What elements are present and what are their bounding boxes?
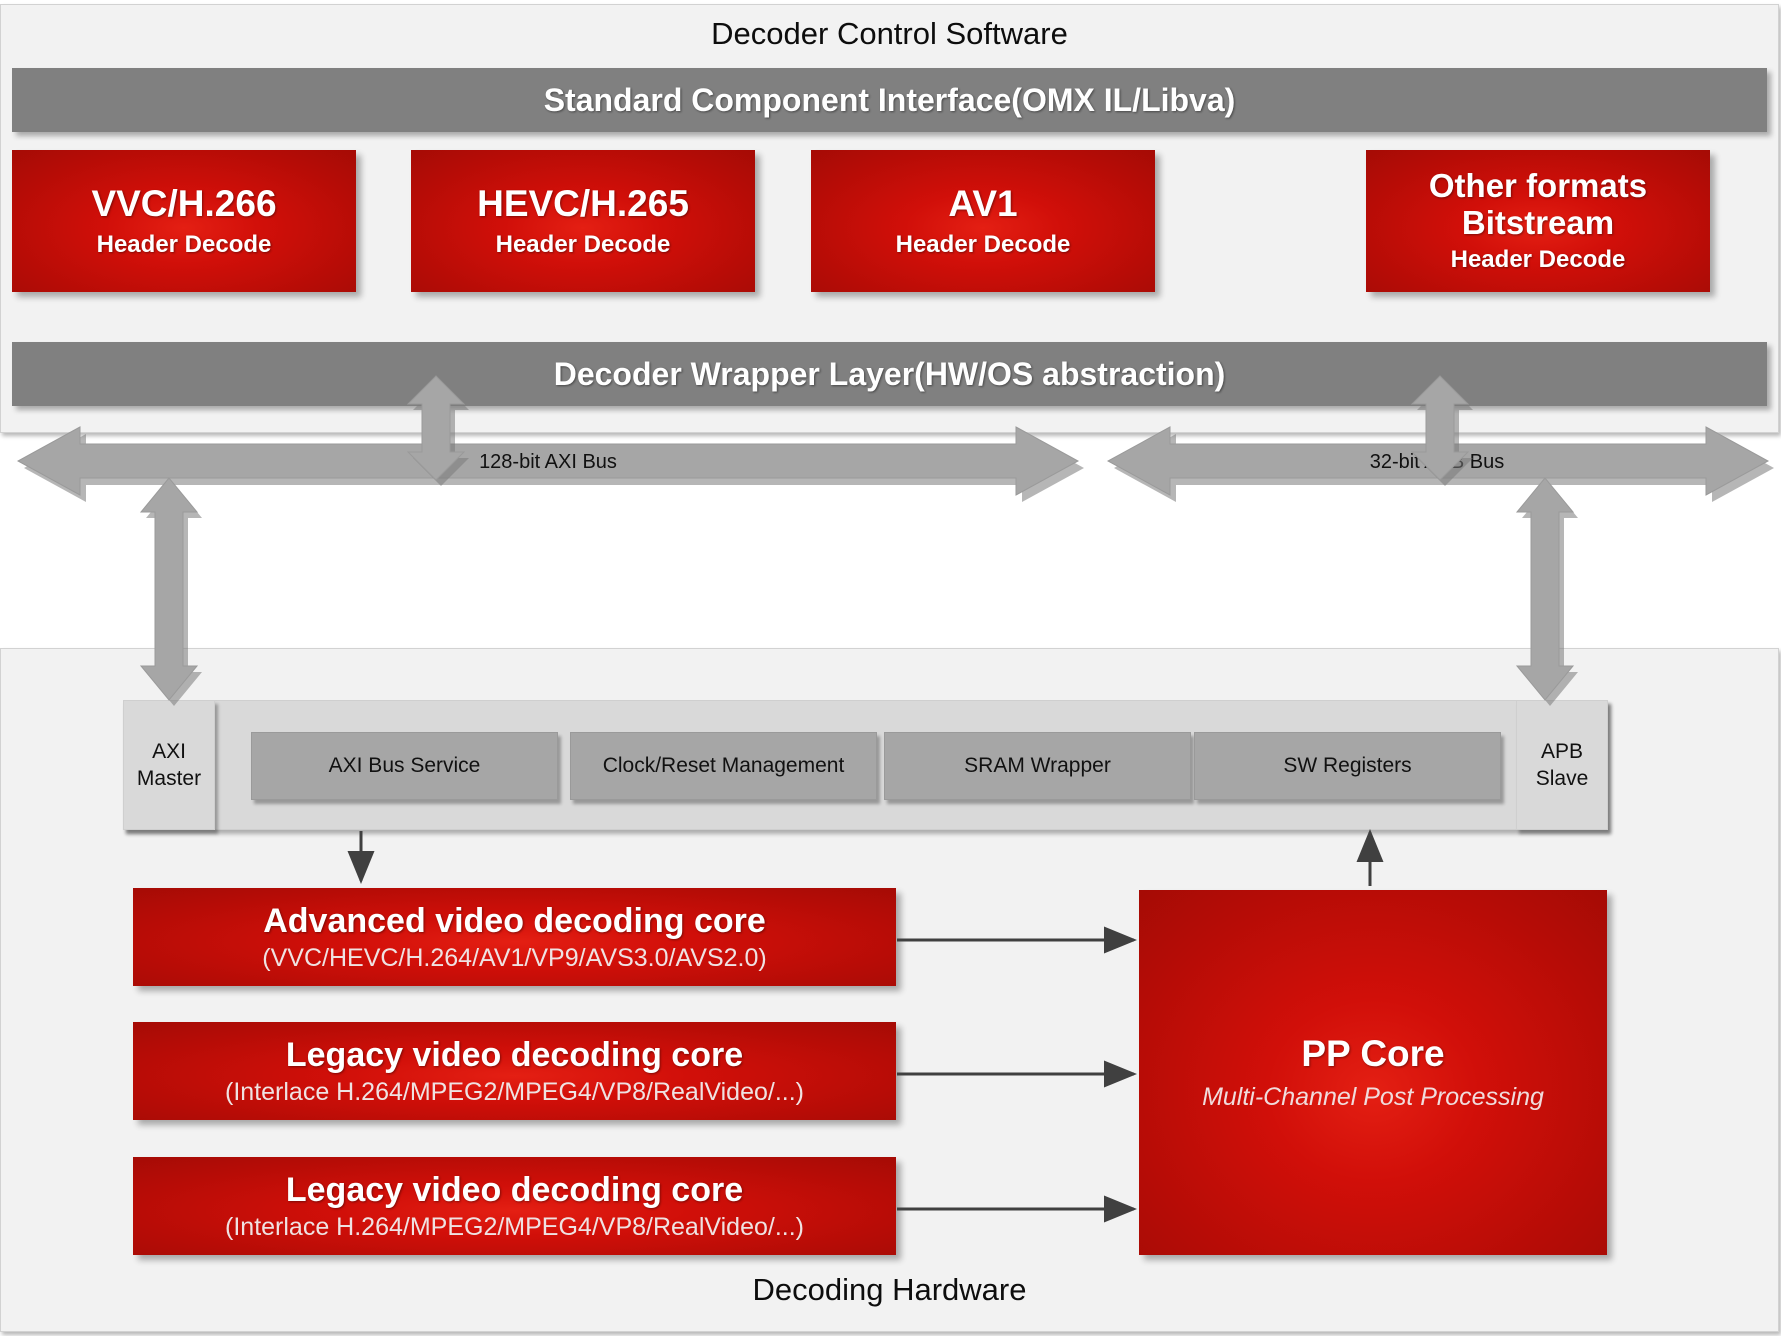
service-chip-clock-reset-management: Clock/Reset Management bbox=[570, 732, 877, 800]
core-advanced-video-decoding-sub: (VVC/HEVC/H.264/AV1/VP9/AVS3.0/AVS2.0) bbox=[262, 944, 766, 973]
axi-master-line2: Master bbox=[137, 765, 201, 792]
core-legacy-video-decoding-2-sub: (Interlace H.264/MPEG2/MPEG4/VP8/RealVid… bbox=[225, 1213, 804, 1242]
codec-block-vvc: VVC/H.266 Header Decode bbox=[12, 150, 356, 292]
codec-block-av1: AV1 Header Decode bbox=[811, 150, 1155, 292]
hardware-panel-title: Decoding Hardware bbox=[0, 1272, 1779, 1308]
apb-bus-arrow: 32-bit APB Bus bbox=[1108, 427, 1774, 502]
apb-slave-line2: Slave bbox=[1536, 765, 1589, 792]
software-panel-title: Decoder Control Software bbox=[0, 16, 1779, 52]
apb-slave-line1: APB bbox=[1541, 738, 1583, 765]
diagram-canvas: Decoder Control Software Standard Compon… bbox=[0, 0, 1781, 1336]
core-legacy-video-decoding-2-title: Legacy video decoding core bbox=[286, 1171, 743, 1209]
codec-block-hevc: HEVC/H.265 Header Decode bbox=[411, 150, 755, 292]
codec-block-vvc-title: VVC/H.266 bbox=[91, 183, 276, 224]
apb-bus-label: 32-bit APB Bus bbox=[1370, 451, 1505, 473]
codec-block-other-formats-title-line2: Bitstream bbox=[1462, 205, 1614, 242]
service-chip-axi-bus-service: AXI Bus Service bbox=[251, 732, 558, 800]
codec-block-hevc-sub: Header Decode bbox=[496, 231, 671, 259]
decoder-wrapper-layer-bar: Decoder Wrapper Layer(HW/OS abstraction) bbox=[12, 342, 1767, 406]
axi-bus-arrow: 128-bit AXI Bus bbox=[18, 427, 1084, 502]
core-advanced-video-decoding: Advanced video decoding core (VVC/HEVC/H… bbox=[133, 888, 896, 986]
core-legacy-video-decoding-2: Legacy video decoding core (Interlace H.… bbox=[133, 1157, 896, 1255]
codec-block-other-formats-sub: Header Decode bbox=[1451, 246, 1626, 274]
service-chip-sw-registers: SW Registers bbox=[1194, 732, 1501, 800]
service-chip-sram-wrapper: SRAM Wrapper bbox=[884, 732, 1191, 800]
core-advanced-video-decoding-title: Advanced video decoding core bbox=[263, 902, 766, 940]
core-legacy-video-decoding-1-title: Legacy video decoding core bbox=[286, 1036, 743, 1074]
core-legacy-video-decoding-1: Legacy video decoding core (Interlace H.… bbox=[133, 1022, 896, 1120]
codec-block-vvc-sub: Header Decode bbox=[97, 231, 272, 259]
core-legacy-video-decoding-1-sub: (Interlace H.264/MPEG2/MPEG4/VP8/RealVid… bbox=[225, 1078, 804, 1107]
codec-block-hevc-title: HEVC/H.265 bbox=[477, 183, 689, 224]
apb-slave-block: APB Slave bbox=[1516, 700, 1608, 830]
axi-master-block: AXI Master bbox=[123, 700, 215, 830]
standard-component-interface-bar: Standard Component Interface(OMX IL/Libv… bbox=[12, 68, 1767, 132]
pp-core-title: PP Core bbox=[1301, 1033, 1444, 1074]
codec-block-av1-title: AV1 bbox=[948, 183, 1017, 224]
axi-bus-label: 128-bit AXI Bus bbox=[479, 451, 617, 473]
codec-block-av1-sub: Header Decode bbox=[896, 231, 1071, 259]
pp-core-sub: Multi-Channel Post Processing bbox=[1202, 1083, 1544, 1112]
codec-block-other-formats: Other formats Bitstream Header Decode bbox=[1366, 150, 1710, 292]
axi-master-line1: AXI bbox=[152, 738, 186, 765]
pp-core-block: PP Core Multi-Channel Post Processing bbox=[1139, 890, 1607, 1255]
codec-block-other-formats-title-line1: Other formats bbox=[1429, 168, 1647, 205]
